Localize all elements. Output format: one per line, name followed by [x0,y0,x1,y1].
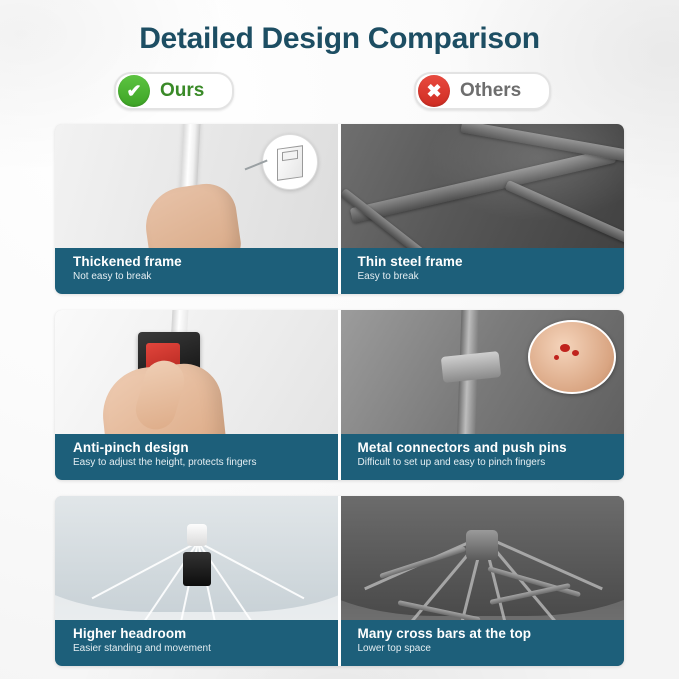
row-1-right-panel: Thin steel frame Easy to break [340,124,625,294]
badge-ours-label: Ours [160,80,210,102]
row-1-left-caption: Thickened frame Not easy to break [55,248,340,294]
badge-others-label: Others [460,80,527,102]
row-1-right-caption: Thin steel frame Easy to break [340,248,625,294]
cross-icon: ✖ [418,75,450,107]
caption-title: Anti-pinch design [73,439,340,456]
badge-row: ✔ Ours ✖ Others [56,72,623,110]
check-icon: ✔ [118,75,150,107]
blood-drop-shape [554,355,559,360]
row-divider [338,310,341,480]
row-1-left-panel: Thickened frame Not easy to break [55,124,340,294]
row-3-right-panel: Many cross bars at the top Lower top spa… [340,496,625,666]
row-divider [338,496,341,666]
caption-title: Higher headroom [73,625,340,642]
row-3-left-caption: Higher headroom Easier standing and move… [55,620,340,666]
row-3-left-panel: Higher headroom Easier standing and move… [55,496,340,666]
caption-subtitle: Easy to break [358,270,625,284]
row-3-right-caption: Many cross bars at the top Lower top spa… [340,620,625,666]
caption-subtitle: Difficult to set up and easy to pinch fi… [358,456,625,470]
hub-top-shape [187,524,207,546]
row-2-right-caption: Metal connectors and push pins Difficult… [340,434,625,480]
row-2-right-panel: Metal connectors and push pins Difficult… [340,310,625,480]
caption-subtitle: Easier standing and movement [73,642,340,656]
hub-top-shape [466,530,498,560]
row-2-left-caption: Anti-pinch design Easy to adjust the hei… [55,434,340,480]
caption-title: Thin steel frame [358,253,625,270]
comparison-rows: Thickened frame Not easy to break Thin s… [55,124,624,682]
pinched-finger-inset [528,320,616,394]
square-tube-icon [277,145,303,181]
comparison-row-3: Higher headroom Easier standing and move… [55,496,624,666]
badge-ours: ✔ Ours [114,72,234,110]
caption-subtitle: Easy to adjust the height, protects fing… [73,456,340,470]
row-divider [338,124,341,294]
page-title: Detailed Design Comparison [0,22,679,56]
row-2-left-panel: Anti-pinch design Easy to adjust the hei… [55,310,340,480]
caption-title: Thickened frame [73,253,340,270]
canopy-hub-group [179,524,215,570]
metal-connector-shape [441,351,501,383]
comparison-row-2: Anti-pinch design Easy to adjust the hei… [55,310,624,480]
comparison-row-1: Thickened frame Not easy to break Thin s… [55,124,624,294]
blood-drop-shape [572,350,579,356]
hub-bracket-shape [183,552,211,586]
caption-subtitle: Not easy to break [73,270,340,284]
caption-subtitle: Lower top space [358,642,625,656]
callout-circle [262,134,318,190]
badge-others: ✖ Others [414,72,551,110]
caption-title: Many cross bars at the top [358,625,625,642]
caption-title: Metal connectors and push pins [358,439,625,456]
comparison-page: Detailed Design Comparison ✔ Ours ✖ Othe… [0,0,679,679]
blood-drop-shape [560,344,570,352]
